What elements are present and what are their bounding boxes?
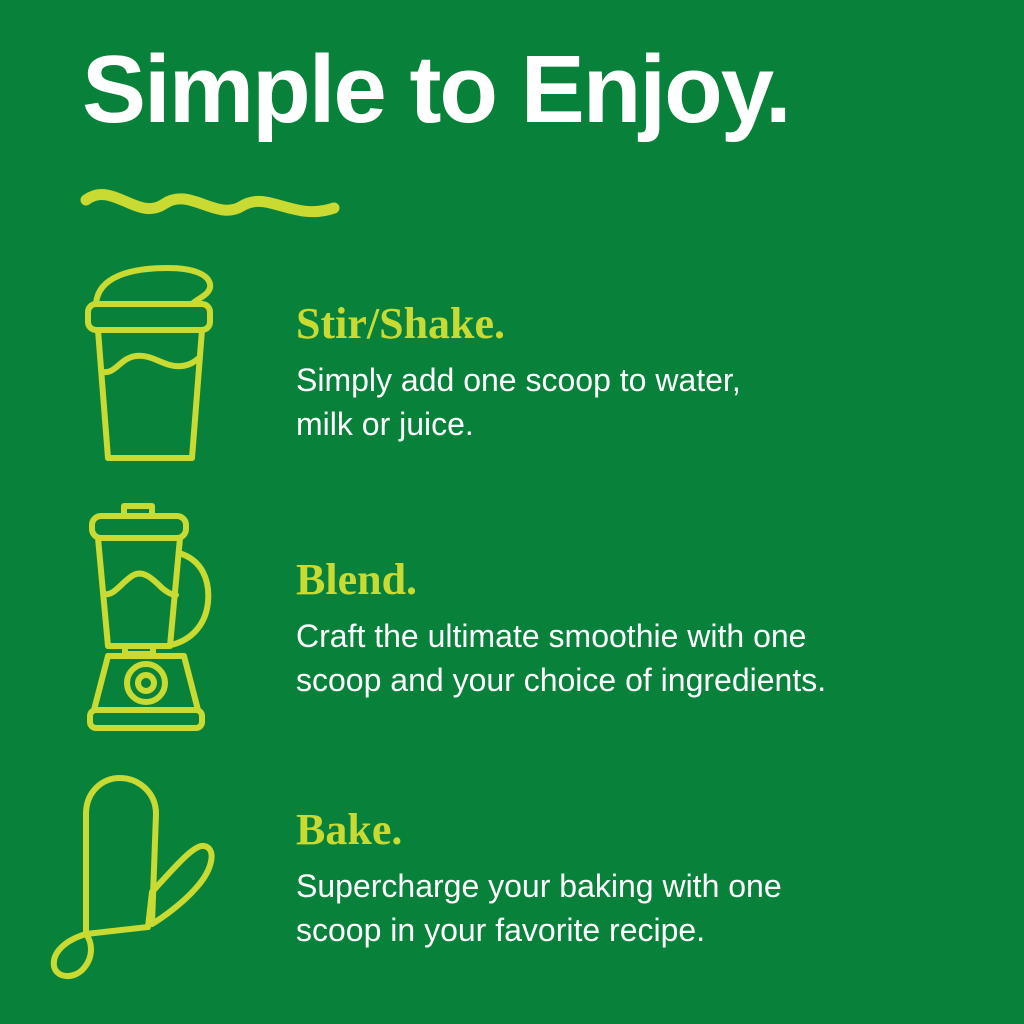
step-stir-shake-text: Stir/Shake. Simply add one scoop to wate…: [296, 300, 956, 446]
step-body: Craft the ultimate smoothie with one sco…: [296, 614, 956, 702]
oven-mitt-icon: [44, 772, 234, 992]
blender-icon: [78, 498, 228, 743]
step-body: Supercharge your baking with one scoop i…: [296, 864, 956, 952]
step-body: Simply add one scoop to water, milk or j…: [296, 358, 956, 446]
wavy-divider-icon: [80, 182, 340, 228]
step-heading: Stir/Shake.: [296, 300, 956, 348]
poster-canvas: Simple to Enjoy. Stir/Sha: [0, 0, 1024, 1024]
page-title: Simple to Enjoy.: [82, 38, 962, 142]
step-heading: Blend.: [296, 556, 956, 604]
step-heading: Bake.: [296, 806, 956, 854]
step-blend-text: Blend. Craft the ultimate smoothie with …: [296, 556, 956, 702]
step-bake-text: Bake. Supercharge your baking with one s…: [296, 806, 956, 952]
shaker-bottle-icon: [72, 262, 232, 472]
